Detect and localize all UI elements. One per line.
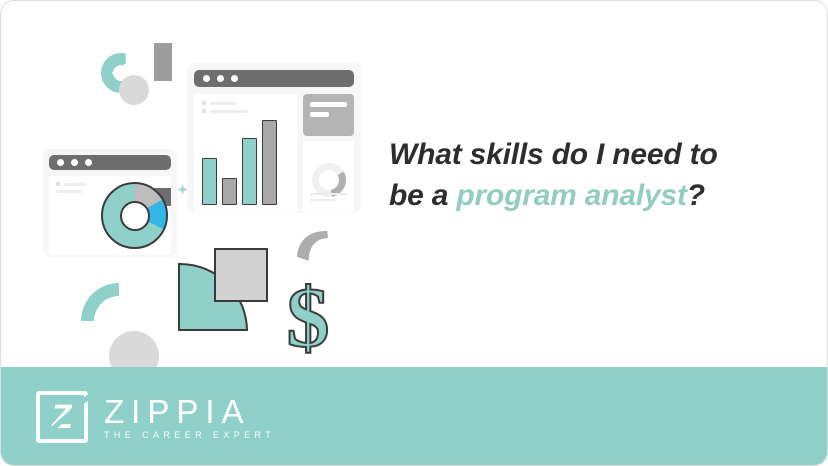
legend-marker-icon <box>56 182 60 186</box>
headline-line-2: be a program analyst? <box>389 175 809 216</box>
bar-2 <box>222 178 237 205</box>
donut-chart <box>101 182 168 249</box>
headline-highlight: program analyst <box>456 179 686 212</box>
window-dot-icon <box>203 75 210 82</box>
brand-name: ZIPPIA <box>104 395 275 428</box>
bar-chart-bars <box>202 115 290 205</box>
legend-label <box>64 183 86 186</box>
headline-suffix: ? <box>687 179 705 212</box>
brand-tagline: THE CAREER EXPERT <box>104 431 275 440</box>
window-dot-icon <box>231 75 238 82</box>
pie-legend <box>56 182 86 197</box>
window-title-bar <box>49 155 171 170</box>
legend-item <box>56 182 86 186</box>
brand-logo[interactable]: Z ZIPPIA THE CAREER EXPERT <box>36 391 275 443</box>
legend-item <box>202 101 248 105</box>
legend-marker-icon <box>202 101 206 105</box>
gray-square-shape <box>214 248 268 302</box>
brand-text: ZIPPIA THE CAREER EXPERT <box>104 395 275 440</box>
side-card-line <box>310 102 347 107</box>
legend-item <box>56 190 86 193</box>
legend-item <box>202 109 248 113</box>
legend-label <box>210 110 248 113</box>
bar-chart-panel <box>194 94 297 212</box>
side-panel-lines <box>310 193 347 205</box>
side-donut-panel <box>303 141 354 212</box>
legend-label <box>56 190 82 193</box>
bar-3 <box>242 138 257 205</box>
window-dot-icon <box>217 75 224 82</box>
gray-petal-shape <box>295 227 329 263</box>
teal-quarter-arc-shape <box>81 283 119 321</box>
legend-label <box>210 102 236 105</box>
legend-marker-icon <box>202 109 206 113</box>
dashboard-body <box>194 94 354 212</box>
pie-window-body <box>49 176 171 255</box>
side-panel-line <box>310 199 337 201</box>
promo-card: $ <box>0 0 828 466</box>
zippia-logo-icon: Z <box>36 391 88 443</box>
headline-line-1: What skills do I need to <box>389 134 809 175</box>
window-dot-icon <box>85 159 92 166</box>
bar-4 <box>262 120 277 205</box>
window-dot-icon <box>57 159 64 166</box>
gray-rectangle-shape <box>154 43 172 81</box>
side-card <box>303 94 354 136</box>
headline-prefix: be a <box>389 179 456 212</box>
side-panel-line <box>310 193 347 195</box>
dollar-sign-icon: $ <box>278 276 338 361</box>
side-donut-chart <box>312 163 346 197</box>
pie-chart-window <box>43 149 177 257</box>
gray-circle-small-shape <box>119 75 149 105</box>
window-dot-icon <box>71 159 78 166</box>
bar-1 <box>202 158 217 205</box>
dashboard-window <box>187 63 361 213</box>
dashboard-side-panel <box>303 94 354 212</box>
window-title-bar <box>194 70 354 87</box>
side-card-line <box>310 112 329 117</box>
page-title: What skills do I need to be a program an… <box>389 134 809 217</box>
